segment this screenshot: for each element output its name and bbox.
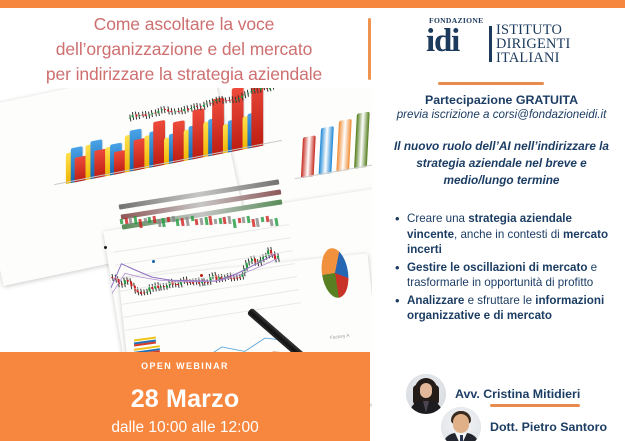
banner-time: dalle 10:00 alle 12:00: [0, 419, 370, 437]
volume-bar: [251, 219, 255, 227]
page-title: Come ascoltare la voce dell’organizzazio…: [4, 12, 364, 87]
speaker-name: Dott. Pietro Santoro: [490, 420, 607, 434]
topic-bullet: Creare una strategia aziendale vincente,…: [393, 211, 625, 258]
rule-above-registration: [438, 82, 544, 85]
idi-logo: FONDAZIONE idi ISTITUTO DIRIGENTI ITALIA…: [416, 16, 606, 70]
title-line-2: dell’organizzazione e del mercato: [4, 37, 364, 62]
banner-kicker: OPEN WEBINAR: [0, 361, 370, 371]
banner-date: 28 Marzo: [0, 385, 370, 414]
session-subtitle: Il nuovo ruolo dell’AI nell’indirizzare …: [386, 138, 617, 188]
webinar-banner: OPEN WEBINAR 28 Marzo dalle 10:00 alle 1…: [0, 352, 370, 441]
registration-headline: Partecipazione GRATUITA: [378, 93, 625, 107]
info-column: FONDAZIONE idi ISTITUTO DIRIGENTI ITALIA…: [378, 8, 625, 441]
topic-bullet: Gestire le oscillazioni di mercato e tra…: [393, 260, 625, 291]
volume-bar: [124, 218, 128, 224]
logo-word-1: ISTITUTO: [496, 23, 571, 37]
top-accent-bar: [0, 0, 625, 8]
volume-bar: [204, 217, 208, 225]
volume-bar: [237, 218, 241, 223]
volume-bar: [157, 219, 161, 227]
volume-bar: [214, 219, 218, 224]
topics-list: Creare una strategia aziendale vincente,…: [393, 211, 625, 326]
legend-marker: [104, 246, 107, 249]
registration-instruction: previa iscrizione a corsi@fondazioneidi.…: [378, 108, 625, 121]
volume-bar: [120, 219, 124, 224]
vertical-divider: [368, 18, 371, 80]
bar: [354, 112, 370, 170]
volume-bar: [143, 218, 147, 223]
topic-bullet: Analizzare e sfruttare le informazioni o…: [393, 293, 625, 324]
volume-bar: [218, 218, 222, 224]
bar: [319, 126, 334, 175]
bar: [301, 135, 316, 178]
logo-idi-mark: idi: [426, 25, 459, 58]
webinar-flyer: Come ascoltare la voce dell’organizzazio…: [0, 0, 625, 441]
bar: [336, 119, 351, 173]
volume-bar: [261, 217, 265, 222]
avatar: [406, 374, 446, 414]
logo-word-2: DIRIGENTI: [496, 37, 571, 51]
speaker-name: Avv. Cristina Mitidieri: [455, 387, 580, 401]
title-line-3: per indirizzare la strategia aziendale: [4, 62, 364, 87]
logo-word-3: ITALIANI: [496, 51, 571, 65]
avatar: [441, 407, 481, 441]
volume-bar: [190, 216, 194, 221]
volume-bar: [167, 217, 171, 222]
title-line-1: Come ascoltare la voce: [4, 12, 364, 37]
logo-wordmark: ISTITUTO DIRIGENTI ITALIANI: [496, 23, 571, 66]
logo-divider: [489, 26, 492, 62]
speaker-2: Dott. Pietro Santoro: [441, 407, 607, 441]
